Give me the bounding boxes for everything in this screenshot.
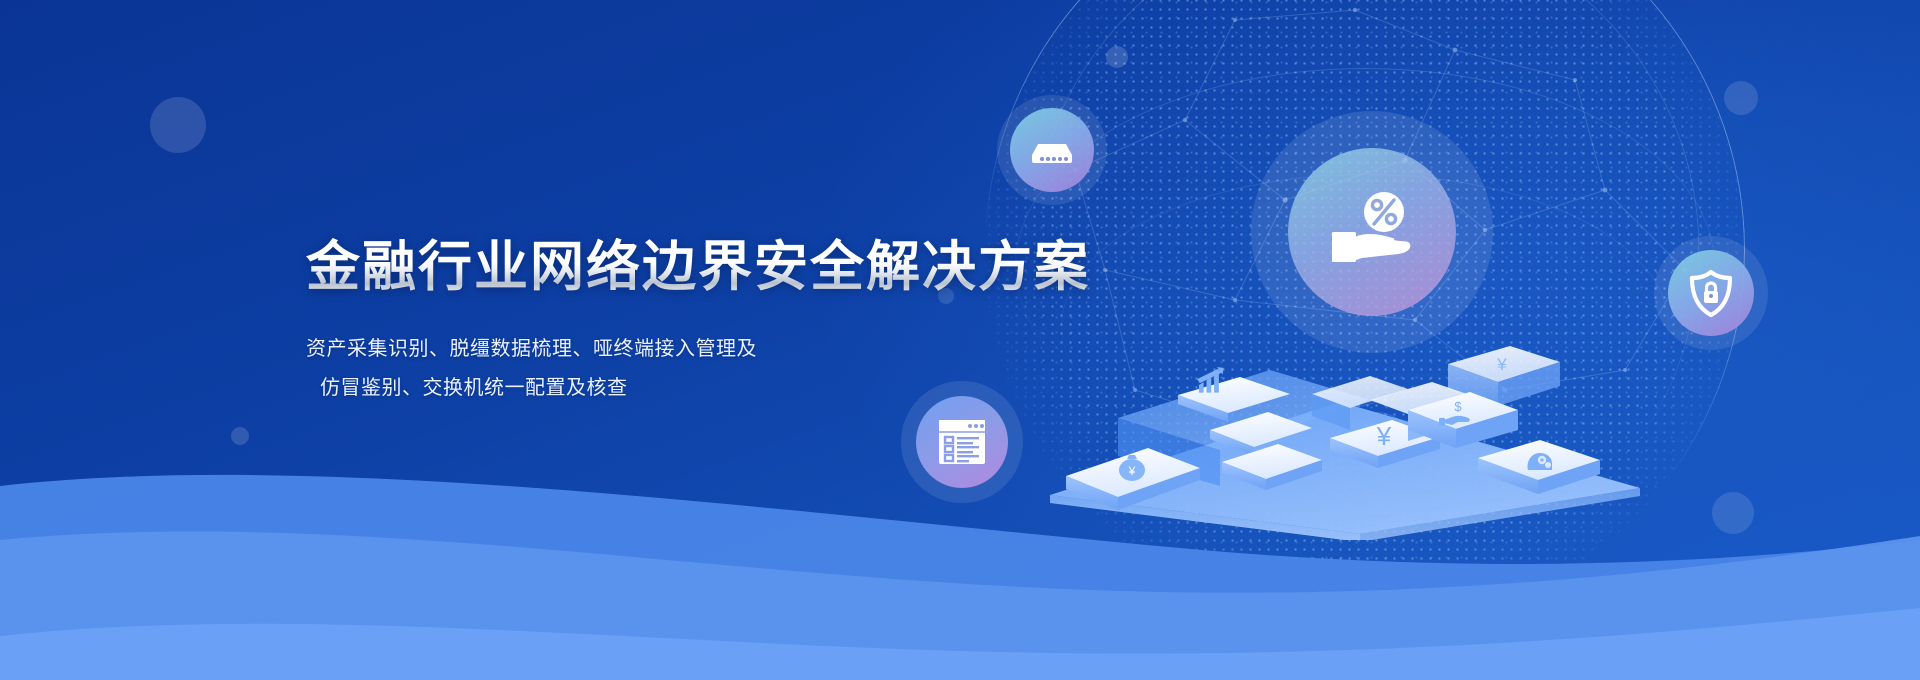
bokeh-circle	[1724, 81, 1758, 115]
bokeh-circle	[1106, 46, 1128, 68]
bokeh-circle	[150, 97, 206, 153]
banner-copy: 金融行业网络边界安全解决方案 资产采集识别、脱缰数据梳理、哑终端接入管理及 仿冒…	[306, 236, 1126, 408]
page-title: 金融行业网络边界安全解决方案	[306, 236, 1126, 300]
banner: ¥	[0, 0, 1920, 680]
subtitle-line-1: 资产采集识别、脱缰数据梳理、哑终端接入管理及	[306, 330, 1126, 369]
yuan-elevated-icon: ¥	[1496, 355, 1507, 374]
percent-hand-icon	[1288, 148, 1456, 316]
switch-glyph	[1028, 133, 1076, 167]
network-switch-icon	[1010, 108, 1094, 192]
shield-lock-icon	[1668, 250, 1754, 336]
document-glyph	[936, 417, 988, 467]
shield-glyph	[1688, 268, 1734, 318]
percent-hand-glyph	[1320, 186, 1424, 278]
